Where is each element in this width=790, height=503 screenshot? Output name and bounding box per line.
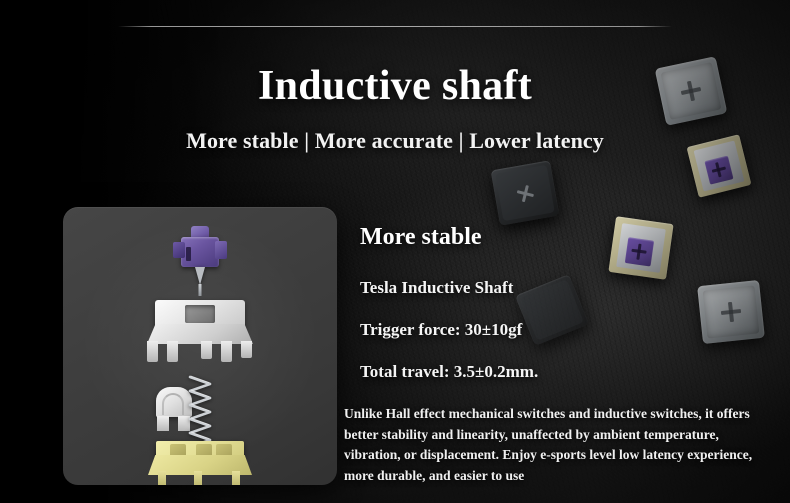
- spec-item-trigger-force: Trigger force: 30±10gf: [360, 320, 760, 340]
- exploded-switch-diagram: [100, 207, 300, 485]
- spec-item-name: Tesla Inductive Shaft: [360, 278, 760, 298]
- slider-foot: [157, 416, 169, 431]
- spec-item-total-travel: Total travel: 3.5±0.2mm.: [360, 362, 760, 382]
- base-pin-leg: [232, 471, 240, 485]
- page-subtitle: More stable | More accurate | Lower late…: [0, 128, 790, 154]
- housing-leg: [147, 341, 158, 362]
- housing-leg: [167, 341, 178, 362]
- switch-stem-part: [173, 225, 227, 271]
- product-image-panel: [63, 207, 337, 485]
- stem-pin: [199, 284, 202, 296]
- housing-leg: [201, 341, 212, 359]
- page-title: Inductive shaft: [0, 62, 790, 110]
- housing-center-hole: [185, 305, 215, 323]
- stem-wing-right: [215, 241, 227, 259]
- housing-leg: [241, 341, 252, 358]
- base-pin-leg: [158, 471, 166, 485]
- description-paragraph: Unlike Hall effect mechanical switches a…: [344, 404, 768, 487]
- top-divider-rule: [118, 26, 672, 27]
- inductive-cone-tip: [195, 267, 205, 285]
- housing-leg: [221, 341, 232, 362]
- top-housing-part: [141, 300, 259, 362]
- section-heading: More stable: [360, 224, 482, 251]
- stem-slot: [186, 247, 191, 261]
- base-pin-leg: [194, 471, 202, 485]
- housing-skirt: [147, 324, 253, 344]
- base-housing-part: [148, 441, 252, 485]
- product-feature-banner: Inductive shaft More stable | More accur…: [0, 0, 790, 503]
- spec-list: Tesla Inductive Shaft Trigger force: 30±…: [360, 278, 760, 382]
- stem-wing-left: [173, 242, 185, 258]
